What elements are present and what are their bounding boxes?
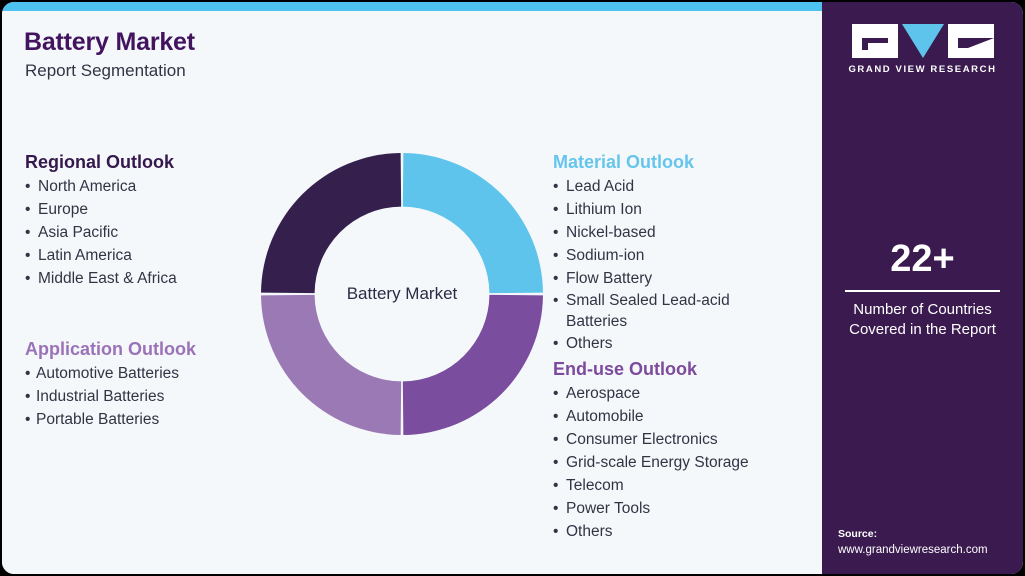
list-item: Automobile <box>553 405 749 428</box>
material-outlook-list: Lead Acid Lithium Ion Nickel-based Sodiu… <box>553 175 781 355</box>
list-item: Consumer Electronics <box>553 428 749 451</box>
donut-segment[interactable] <box>261 295 401 435</box>
source-block: Source: www.grandviewresearch.com <box>838 527 1018 558</box>
donut-segment[interactable] <box>403 153 543 293</box>
enduse-outlook-title: End-use Outlook <box>553 358 749 380</box>
list-item: Middle East & Africa <box>25 267 177 290</box>
list-item: Lead Acid <box>553 175 781 198</box>
brand-sidebar: GRAND VIEW RESEARCH 22+ Number of Countr… <box>822 2 1023 574</box>
donut-chart: Battery Market <box>258 150 546 438</box>
application-outlook-title: Application Outlook <box>25 338 196 360</box>
list-item: Aerospace <box>553 382 749 405</box>
list-item: Portable Batteries <box>25 408 196 431</box>
list-item: Others <box>553 332 781 355</box>
enduse-outlook-list: Aerospace Automobile Consumer Electronic… <box>553 382 749 543</box>
page-title: Battery Market <box>24 28 195 57</box>
stat-divider <box>845 290 1000 292</box>
list-item: Lithium Ion <box>553 198 781 221</box>
list-item: Telecom <box>553 474 749 497</box>
list-item: Asia Pacific <box>25 221 177 244</box>
application-outlook-block: Application Outlook Automotive Batteries… <box>25 338 196 431</box>
list-item: Sodium-ion <box>553 244 781 267</box>
gvr-logo-icon <box>852 24 994 58</box>
list-item: Flow Battery <box>553 267 781 290</box>
countries-stat-block: 22+ Number of Countries Covered in the R… <box>822 238 1023 340</box>
list-item: Automotive Batteries <box>25 362 196 385</box>
list-item: Small Sealed Lead-acid Batteries <box>553 290 781 332</box>
list-item: Latin America <box>25 244 177 267</box>
donut-chart-svg <box>258 150 546 438</box>
infographic-root: Battery Market Report Segmentation Regio… <box>0 0 1025 576</box>
list-item: Nickel-based <box>553 221 781 244</box>
list-item: Others <box>553 520 749 543</box>
application-outlook-list: Automotive Batteries Industrial Batterie… <box>25 362 196 431</box>
brand-logo-text: GRAND VIEW RESEARCH <box>822 64 1023 75</box>
regional-outlook-list: North America Europe Asia Pacific Latin … <box>25 175 177 290</box>
page-subtitle: Report Segmentation <box>25 61 186 81</box>
infographic-card: Battery Market Report Segmentation Regio… <box>2 2 1023 574</box>
triangle-icon <box>902 24 944 58</box>
list-item: Grid-scale Energy Storage <box>553 451 749 474</box>
donut-segment[interactable] <box>403 295 543 435</box>
source-url[interactable]: www.grandviewresearch.com <box>838 542 1018 558</box>
material-outlook-block: Material Outlook Lead Acid Lithium Ion N… <box>553 151 781 355</box>
list-item: Power Tools <box>553 497 749 520</box>
brand-logo: GRAND VIEW RESEARCH <box>822 24 1023 75</box>
enduse-outlook-block: End-use Outlook Aerospace Automobile Con… <box>553 358 749 543</box>
list-item: Industrial Batteries <box>25 385 196 408</box>
donut-segment[interactable] <box>261 153 401 293</box>
stat-caption-line2: Covered in the Report <box>822 320 1023 340</box>
list-item: North America <box>25 175 177 198</box>
list-item: Europe <box>25 198 177 221</box>
stat-caption-line1: Number of Countries <box>822 300 1023 320</box>
material-outlook-title: Material Outlook <box>553 151 781 173</box>
regional-outlook-title: Regional Outlook <box>25 151 177 173</box>
regional-outlook-block: Regional Outlook North America Europe As… <box>25 151 177 290</box>
stat-number: 22+ <box>822 238 1023 280</box>
main-content-area: Battery Market Report Segmentation Regio… <box>2 11 822 574</box>
source-label: Source: <box>838 527 1018 542</box>
